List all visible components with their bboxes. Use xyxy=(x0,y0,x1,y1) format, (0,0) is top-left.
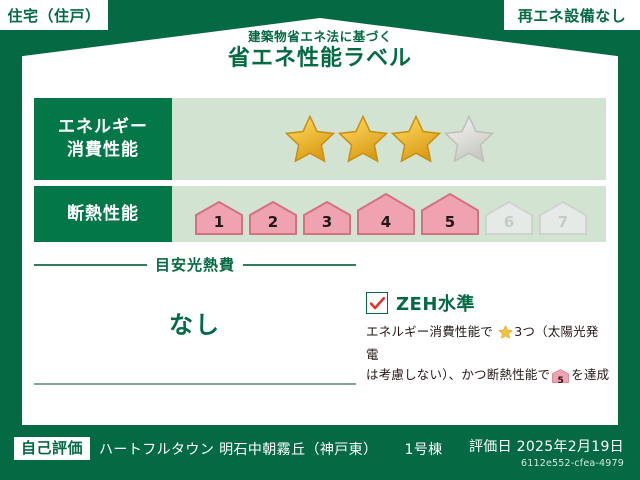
insulation-performance-value: 1234567 xyxy=(172,186,606,242)
energy-performance-label-key: エネルギー 消費性能 xyxy=(34,98,172,180)
zeh-desc-part1: エネルギー消費性能で xyxy=(366,324,493,339)
zeh-description: エネルギー消費性能で 3つ（太陽光発電 は考慮しない）、かつ断熱性能で 5を達成 xyxy=(366,322,610,389)
inline-house-level-icon: 5 xyxy=(552,369,569,389)
insulation-performance-label-key: 断熱性能 xyxy=(34,186,172,242)
insulation-house-filled: 5 xyxy=(420,192,480,236)
energy-performance-label: 住宅（住戸） 再エネ設備なし 建築物省エネ法に基づく 省エネ性能ラベル エネルギ… xyxy=(0,0,640,480)
insulation-house-filled: 4 xyxy=(356,192,416,236)
label-id: 6112e552-cfea-4979 xyxy=(469,458,624,469)
self-evaluation-badge: 自己評価 xyxy=(14,437,90,460)
zeh-heading: ZEH水準 xyxy=(366,290,610,316)
star-empty-icon xyxy=(443,114,495,164)
energy-key-line1: エネルギー xyxy=(58,116,148,139)
utility-cost-block: 目安光熱費 なし xyxy=(34,254,356,340)
insulation-key-text: 断熱性能 xyxy=(67,203,139,226)
footer-left: 自己評価 ハートフルタウン 明石中朝霧丘（神戸東） 1号棟 xyxy=(14,437,443,460)
insulation-house-filled: 2 xyxy=(248,200,298,236)
heading-rule-left xyxy=(34,264,147,266)
heading-rule-right xyxy=(243,264,356,266)
utility-cost-bottom-rule xyxy=(34,383,356,385)
utility-cost-title: 目安光熱費 xyxy=(155,254,235,275)
utility-cost-value: なし xyxy=(34,305,356,340)
inline-house-level-number: 5 xyxy=(552,374,569,388)
label-body-panel: エネルギー 消費性能 断熱性能 1234567 目安光熱費 なし xyxy=(22,86,618,425)
zeh-block: ZEH水準 エネルギー消費性能で 3つ（太陽光発電 は考慮しない）、かつ断熱性能… xyxy=(366,290,610,389)
unit-number: 1号棟 xyxy=(404,439,442,459)
property-name: ハートフルタウン 明石中朝霧丘（神戸東） xyxy=(99,439,377,459)
star-filled-icon xyxy=(284,114,336,164)
inline-star-icon xyxy=(494,327,513,342)
zeh-desc-part2: は考慮しない）、かつ断熱性能で xyxy=(366,367,550,382)
insulation-house-filled: 3 xyxy=(302,200,352,236)
star-rating xyxy=(284,114,495,164)
energy-key-line2: 消費性能 xyxy=(67,139,139,162)
star-filled-icon xyxy=(337,114,389,164)
zeh-desc-part3: を達成 xyxy=(571,367,609,382)
insulation-level-scale: 1234567 xyxy=(194,192,588,236)
star-filled-icon xyxy=(390,114,442,164)
insulation-house-empty: 6 xyxy=(484,200,534,236)
zeh-title: ZEH水準 xyxy=(396,290,475,316)
label-footer: 自己評価 ハートフルタウン 明石中朝霧丘（神戸東） 1号棟 評価日 2025年2… xyxy=(0,432,640,480)
insulation-house-filled: 1 xyxy=(194,200,244,236)
insulation-house-empty: 7 xyxy=(538,200,588,236)
checkbox-checked-icon xyxy=(366,292,388,314)
badge-renewable-equipment: 再エネ設備なし xyxy=(504,0,640,30)
row-insulation-performance: 断熱性能 1234567 xyxy=(34,186,606,242)
evaluation-date: 評価日 2025年2月19日 xyxy=(469,436,624,456)
utility-cost-heading: 目安光熱費 xyxy=(34,254,356,275)
row-energy-performance: エネルギー 消費性能 xyxy=(34,98,606,180)
energy-performance-value xyxy=(172,98,606,180)
badge-building-type: 住宅（住戸） xyxy=(0,0,108,30)
footer-right: 評価日 2025年2月19日 6112e552-cfea-4979 xyxy=(469,436,624,469)
